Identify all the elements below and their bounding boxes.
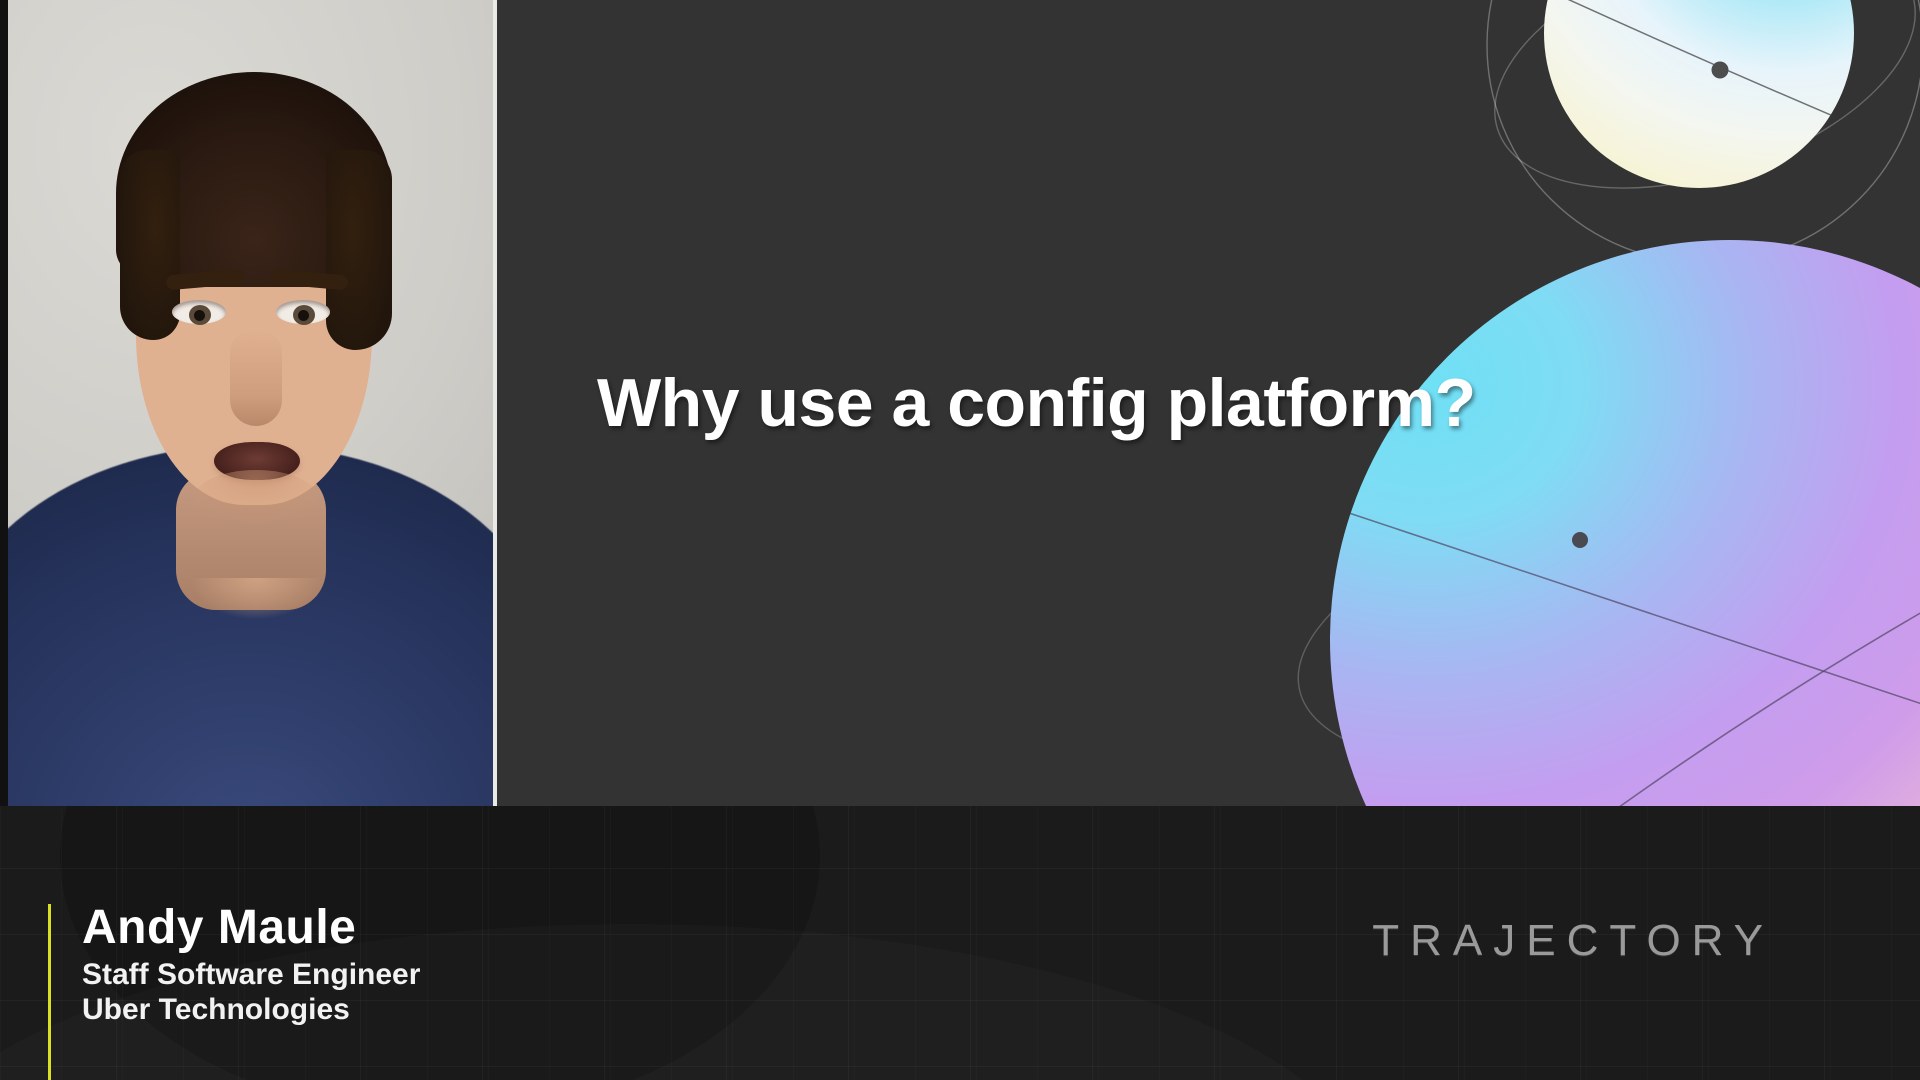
slide-content: Why use a config platform? (497, 0, 1920, 806)
presenter-hair-right (326, 150, 392, 350)
presenter-role: Staff Software Engineer (82, 958, 982, 993)
webcam-image (8, 0, 493, 806)
presenter-hair-left (120, 150, 180, 340)
presenter-nose (230, 330, 282, 426)
page-title: Why use a config platform? (597, 366, 1476, 441)
presenter-footer-bar: Andy Maule Staff Software Engineer Uber … (0, 806, 1920, 1080)
presenter-info: Andy Maule Staff Software Engineer Uber … (82, 902, 982, 1027)
presenter-video-feed[interactable] (0, 0, 497, 806)
accent-bar (48, 904, 51, 1080)
slide-stage: Why use a config platform? Andy Maule St… (0, 0, 1920, 1080)
presenter-name: Andy Maule (82, 902, 982, 954)
presenter-pupil-left (194, 310, 205, 321)
trajectory-logo: TRAJECTORY (1372, 916, 1774, 966)
presenter-chin (194, 470, 318, 526)
slide-title-container: Why use a config platform? (597, 0, 1657, 806)
presentation-top-area: Why use a config platform? (0, 0, 1920, 806)
presenter-pupil-right (298, 310, 309, 321)
presenter-organization: Uber Technologies (82, 993, 982, 1028)
